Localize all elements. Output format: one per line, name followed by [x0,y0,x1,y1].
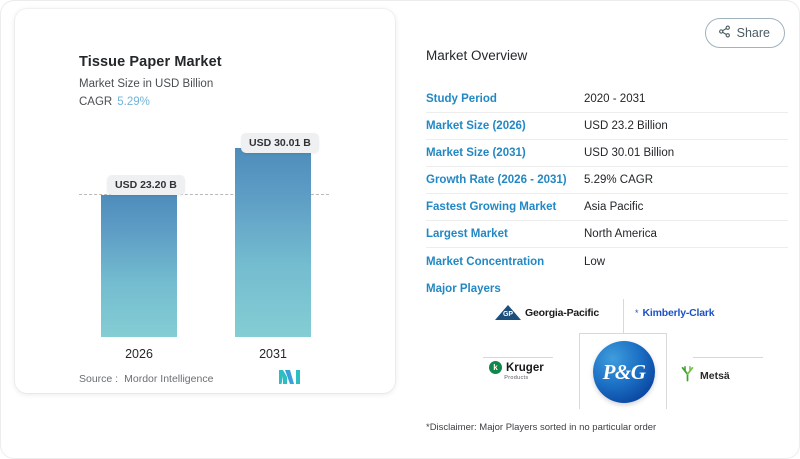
share-button[interactable]: Share [705,18,785,48]
kimberly-clark-label: Kimberly-Clark [643,307,715,319]
pg-circle-icon: P&G [593,341,655,403]
bar-chart-plot: USD 23.20 B USD 30.01 B 2026 2031 [15,9,395,393]
row-key: Growth Rate (2026 - 2031) [426,174,584,186]
source-label: Source : [79,373,118,385]
row-value: Low [584,256,605,268]
row-value: 5.29% CAGR [584,174,653,186]
players-disclaimer: *Disclaimer: Major Players sorted in no … [426,422,656,433]
table-row: Market Concentration Low [426,248,788,275]
chart-source: Source : Mordor Intelligence [79,373,213,385]
table-row: Growth Rate (2026 - 2031) 5.29% CAGR [426,167,788,194]
row-value: 2020 - 2031 [584,93,645,105]
quadrant-divider-vertical [623,299,624,333]
bar-value-label-2031: USD 30.01 B [241,133,319,153]
pg-label: P&G [603,360,646,385]
share-button-label: Share [737,26,770,40]
table-row: Market Size (2031) USD 30.01 Billion [426,140,788,167]
row-key: Market Size (2031) [426,147,584,159]
x-axis-tick-2026: 2026 [101,347,177,361]
x-axis-tick-2031: 2031 [235,347,311,361]
table-row: Largest Market North America [426,221,788,248]
metsa-label: Metsä [700,370,730,382]
source-name: Mordor Intelligence [124,373,213,385]
kruger-circle-icon: k [489,361,502,374]
logo-georgia-pacific: GP Georgia-Pacific [495,305,599,320]
bars-container [15,9,395,337]
mordor-intelligence-logo [279,369,303,390]
metsa-tree-icon [679,365,696,387]
chart-card: Tissue Paper Market Market Size in USD B… [15,9,395,393]
logo-metsa: Metsä [679,365,730,387]
market-summary-page: Tissue Paper Market Market Size in USD B… [0,0,800,459]
bar-value-label-2026: USD 23.20 B [107,175,185,195]
georgia-pacific-mark: GP [500,311,516,318]
quadrant-divider-left [483,357,553,358]
row-value: North America [584,228,657,240]
bar-2031[interactable] [235,148,311,337]
row-key: Study Period [426,93,584,105]
table-row: Market Size (2026) USD 23.2 Billion [426,113,788,140]
kruger-label: Kruger [506,362,544,374]
logo-kruger: k Kruger Products [489,361,544,381]
table-row: Study Period 2020 - 2031 [426,86,788,113]
kruger-sublabel: Products [504,375,528,381]
overview-title: Market Overview [426,48,527,63]
quadrant-divider-right [693,357,763,358]
bar-2026[interactable] [101,195,177,337]
kimberly-clark-star-icon: * [635,308,639,318]
row-key: Largest Market [426,228,584,240]
row-key: Market Concentration [426,256,584,268]
major-players-logos: GP Georgia-Pacific * Kimberly-Clark k Kr… [483,299,763,409]
row-key: Market Size (2026) [426,120,584,132]
row-value: USD 30.01 Billion [584,147,674,159]
georgia-pacific-label: Georgia-Pacific [525,307,599,319]
georgia-pacific-icon: GP [495,305,521,320]
major-players-label: Major Players [426,283,501,295]
kruger-logo-row: k Kruger [489,361,544,374]
overview-panel: Share Market Overview Study Period 2020 … [413,1,800,459]
row-key: Fastest Growing Market [426,201,584,213]
logo-kimberly-clark: * Kimberly-Clark [635,307,714,319]
logo-pg: P&G [593,341,655,403]
row-value: Asia Pacific [584,201,643,213]
overview-table: Study Period 2020 - 2031 Market Size (20… [426,86,788,275]
row-value: USD 23.2 Billion [584,120,668,132]
share-nodes-icon [718,25,731,41]
table-row: Fastest Growing Market Asia Pacific [426,194,788,221]
